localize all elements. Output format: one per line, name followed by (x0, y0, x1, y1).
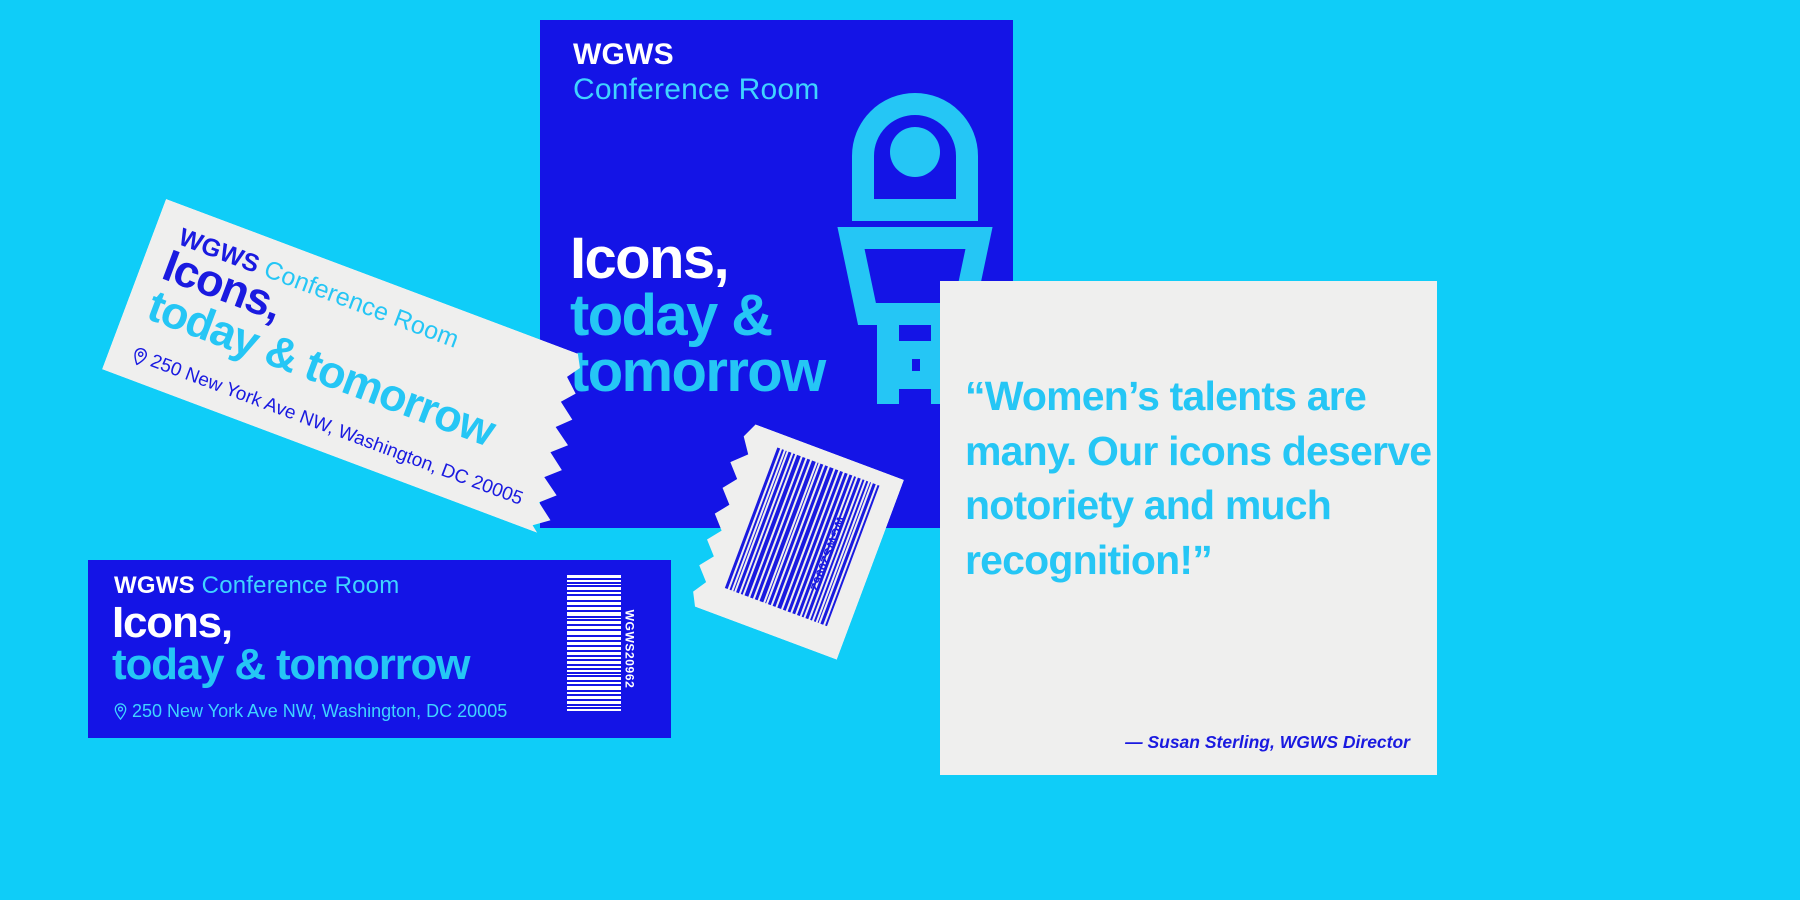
barcode-bar (567, 647, 621, 650)
barcode-bar (567, 621, 621, 624)
barcode-bar (567, 652, 621, 655)
barcode-bar (567, 575, 621, 578)
barcode-bar (567, 682, 621, 684)
blue-ticket-title-line-2: today & tomorrow (112, 644, 469, 686)
barcode-bar (567, 587, 621, 590)
barcode-bar (567, 618, 621, 619)
barcode-bar (567, 666, 621, 668)
barcode-bar (567, 677, 621, 680)
blue-ticket-brand-acronym: WGWS (114, 572, 202, 599)
barcode-bar (567, 706, 621, 707)
barcode-bar (567, 701, 621, 704)
barcode-icon (567, 575, 621, 723)
poster-title-line-1: Icons, (570, 231, 825, 287)
barcode-bar (567, 637, 621, 640)
poster-brand-acronym: WGWS (573, 37, 819, 72)
blue-bottom-ticket: WGWS Conference Room Icons, today & tomo… (88, 560, 671, 738)
barcode-bar (567, 607, 621, 610)
barcode-bar (567, 709, 621, 711)
barcode-bar (567, 592, 621, 594)
barcode-bar (567, 674, 621, 675)
barcode-bar (567, 661, 621, 664)
barcode-bar (567, 602, 621, 605)
blue-ticket-brand-heading: WGWS Conference Room (114, 572, 399, 600)
barcode-bar (567, 580, 621, 582)
barcode-bar (567, 657, 621, 659)
barcode-bar (567, 626, 621, 629)
quote-text: “Women’s talents are many. Our icons des… (965, 369, 1435, 587)
map-pin-icon (114, 703, 127, 720)
blue-ticket-event-title: Icons, today & tomorrow (112, 602, 469, 686)
barcode-bar (567, 596, 621, 600)
blue-ticket-code: WGWS20962 (623, 610, 637, 689)
poster-title-line-2: today & (570, 288, 825, 344)
barcode-bar (567, 692, 621, 694)
barcode-bar (567, 642, 621, 645)
barcode-bar (567, 686, 621, 690)
blue-ticket-title-line-1: Icons, (112, 602, 469, 644)
quote-attribution: — Susan Sterling, WGWS Director (1125, 732, 1410, 753)
quote-card: “Women’s talents are many. Our icons des… (940, 281, 1437, 775)
barcode-bar (567, 584, 621, 585)
poster-brand-heading: WGWS Conference Room (573, 37, 819, 108)
barcode-bar (567, 670, 621, 672)
blue-ticket-address: 250 New York Ave NW, Washington, DC 2000… (114, 701, 507, 722)
barcode-bar (567, 696, 621, 699)
poster-composition-canvas: WGWS Conference Room Icons, today & tomo… (0, 0, 1800, 900)
poster-brand-room: Conference Room (573, 72, 819, 107)
blue-ticket-address-text: 250 New York Ave NW, Washington, DC 2000… (132, 701, 507, 722)
barcode-bar (567, 612, 621, 616)
barcode-bar (567, 631, 621, 635)
blue-ticket-brand-room: Conference Room (202, 572, 400, 599)
